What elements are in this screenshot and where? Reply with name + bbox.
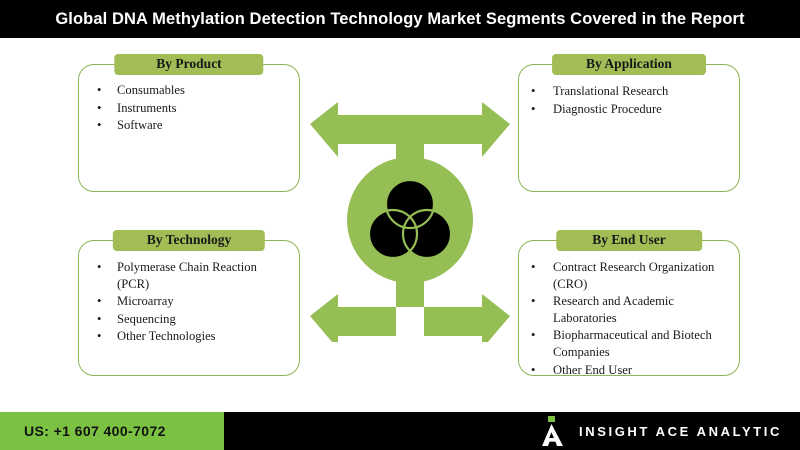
segment-list-technology: •Polymerase Chain Reaction (PCR) •Microa… [79,241,299,345]
bullet-icon: • [531,259,535,276]
bullet-icon: • [97,311,101,328]
list-item-label: Research and Academic Laboratories [553,294,674,325]
bullet-icon: • [97,82,101,99]
list-item: •Sequencing [89,311,289,328]
footer-brand: INSIGHT ACE ANALYTIC [539,412,782,450]
center-graphic [300,98,520,342]
list-item: •Biopharmaceutical and Biotech Companies [523,327,729,360]
bullet-icon: • [97,293,101,310]
list-item: •Polymerase Chain Reaction (PCR) [89,259,289,292]
bullet-icon: • [97,259,101,276]
list-item: •Microarray [89,293,289,310]
segment-box-enduser: By End User •Contract Research Organizat… [518,240,740,376]
list-item: •Research and Academic Laboratories [523,293,729,326]
segment-header-application: By Application [552,54,706,75]
list-item-label: Biopharmaceutical and Biotech Companies [553,328,712,359]
insight-ace-analytic-logo-icon [539,416,565,446]
list-item-label: Microarray [117,294,174,308]
bullet-icon: • [97,100,101,117]
list-item: •Instruments [89,100,289,117]
infographic-page: Global DNA Methylation Detection Technol… [0,0,800,450]
page-title: Global DNA Methylation Detection Technol… [55,10,744,29]
footer-phone-number: US: +1 607 400-7072 [0,423,166,439]
list-item-label: Translational Research [553,84,668,98]
list-item: •Translational Research [523,83,729,100]
segment-box-technology: By Technology •Polymerase Chain Reaction… [78,240,300,376]
list-item: •Contract Research Organization (CRO) [523,259,729,292]
segment-list-enduser: •Contract Research Organization (CRO) •R… [519,241,739,378]
list-item: •Diagnostic Procedure [523,101,729,118]
brand-name: INSIGHT ACE ANALYTIC [579,424,782,439]
bullet-icon: • [531,327,535,344]
list-item-label: Polymerase Chain Reaction (PCR) [117,260,257,291]
list-item-label: Consumables [117,83,185,97]
footer-bar: US: +1 607 400-7072 INSIGHT ACE ANALYTIC [0,412,800,450]
list-item: •Other End User [523,362,729,379]
list-item-label: Diagnostic Procedure [553,102,662,116]
footer-phone-bar: US: +1 607 400-7072 [0,412,224,450]
list-item-label: Instruments [117,101,176,115]
list-item-label: Software [117,118,162,132]
bullet-icon: • [531,293,535,310]
segment-box-product: By Product •Consumables •Instruments •So… [78,64,300,192]
list-item-label: Other End User [553,363,632,377]
list-item: •Consumables [89,82,289,99]
bullet-icon: • [97,328,101,345]
segment-box-application: By Application •Translational Research •… [518,64,740,192]
bullet-icon: • [97,117,101,134]
bullet-icon: • [531,83,535,100]
bullet-icon: • [531,362,535,379]
list-item: •Other Technologies [89,328,289,345]
segment-header-technology: By Technology [113,230,265,251]
segment-header-enduser: By End User [556,230,702,251]
segment-header-product: By Product [114,54,263,75]
list-item: •Software [89,117,289,134]
bullet-icon: • [531,101,535,118]
title-bar: Global DNA Methylation Detection Technol… [0,0,800,38]
list-item-label: Contract Research Organization (CRO) [553,260,714,291]
list-item-label: Other Technologies [117,329,216,343]
segment-list-product: •Consumables •Instruments •Software [79,65,299,134]
list-item-label: Sequencing [117,312,176,326]
